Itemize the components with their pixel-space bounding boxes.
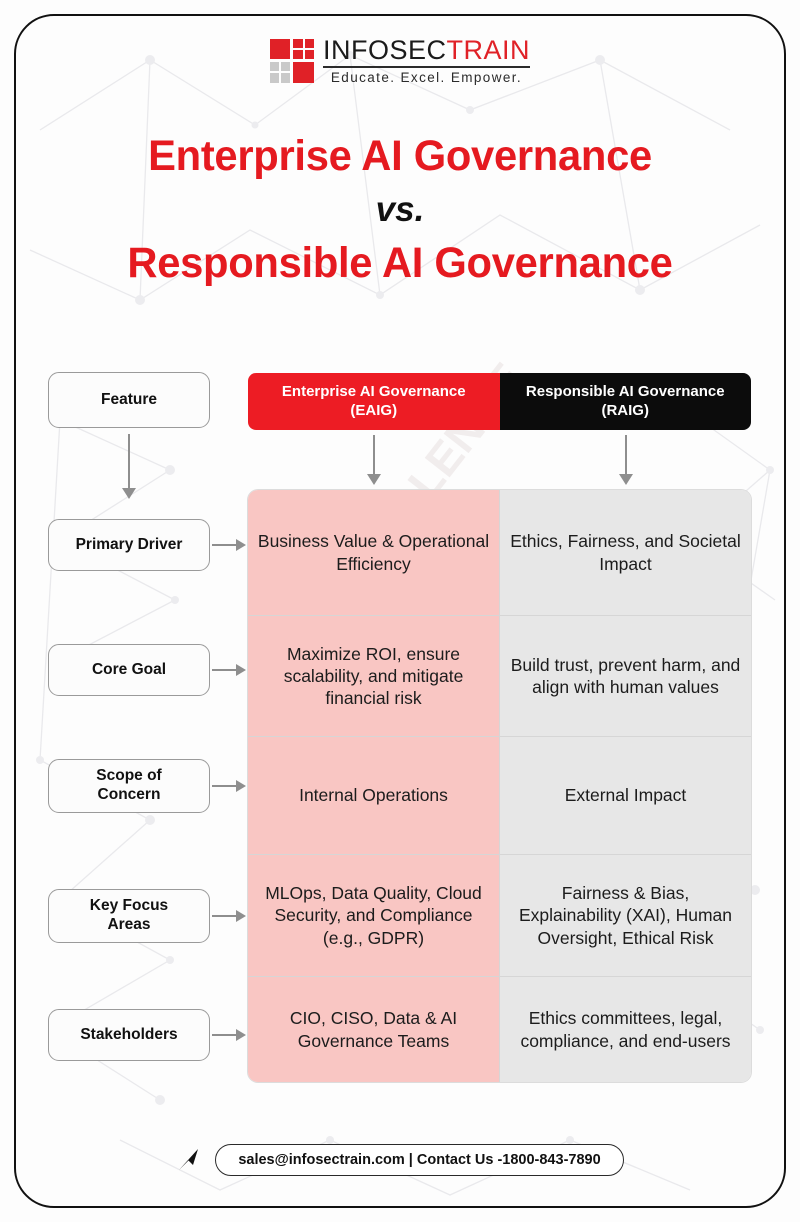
label-text-scope-of-concern: Scope ofConcern bbox=[96, 767, 161, 805]
table-row: MLOps, Data Quality, Cloud Security, and… bbox=[248, 855, 751, 977]
header-raig-line1: Responsible AI Governance bbox=[526, 383, 725, 400]
arrow-key-focus-areas-right bbox=[212, 910, 246, 922]
label-box-stakeholders: Stakeholders bbox=[48, 1009, 210, 1061]
table-row: Business Value & Operational Efficiency … bbox=[248, 490, 751, 616]
label-text-key-focus-areas: Key FocusAreas bbox=[90, 897, 168, 935]
logo-wordmark-part2: TRAIN bbox=[447, 35, 531, 65]
table-row: CIO, CISO, Data & AI Governance Teams Et… bbox=[248, 977, 751, 1082]
cursor-arrow-icon bbox=[176, 1146, 204, 1174]
label-text-stakeholders: Stakeholders bbox=[80, 1026, 177, 1045]
arrow-raig-down bbox=[620, 435, 632, 485]
label-text-primary-driver: Primary Driver bbox=[76, 536, 183, 555]
logo-wordmark-part1: INFOSEC bbox=[323, 35, 447, 65]
table-row: Maximize ROI, ensure scalability, and mi… bbox=[248, 616, 751, 737]
arrow-stakeholders-right bbox=[212, 1029, 246, 1041]
title-line-2: Responsible AI Governance bbox=[26, 239, 775, 287]
table-header-row: Enterprise AI Governance (EAIG) Responsi… bbox=[248, 373, 751, 430]
page-content: INFOSECTRAIN Educate. Excel. Empower. En… bbox=[14, 14, 786, 1208]
footer-contact-bar: sales@infosectrain.com | Contact Us -180… bbox=[14, 1144, 786, 1176]
header-raig-line2: (RAIG) bbox=[601, 402, 649, 419]
brand-logo: INFOSECTRAIN Educate. Excel. Empower. bbox=[14, 36, 786, 85]
logo-tagline: Educate. Excel. Empower. bbox=[323, 70, 530, 85]
arrow-primary-driver-right bbox=[212, 539, 246, 551]
comparison-table: Business Value & Operational Efficiency … bbox=[248, 490, 751, 1082]
cell-eaig-core-goal: Maximize ROI, ensure scalability, and mi… bbox=[248, 616, 499, 737]
label-box-core-goal: Core Goal bbox=[48, 644, 210, 696]
infographic-page: INFOSECTRAIN Educate. Excel. Empower. En… bbox=[0, 0, 800, 1222]
logo-divider bbox=[323, 66, 530, 68]
title-vs: vs. bbox=[14, 184, 786, 237]
label-box-feature: Feature bbox=[48, 372, 210, 428]
header-eaig-line2: (EAIG) bbox=[350, 402, 397, 419]
cell-eaig-stakeholders: CIO, CISO, Data & AI Governance Teams bbox=[248, 977, 499, 1082]
infosectrain-blocks-icon bbox=[270, 39, 314, 83]
logo-wordmark: INFOSECTRAIN bbox=[323, 36, 530, 64]
label-box-primary-driver: Primary Driver bbox=[48, 519, 210, 571]
cell-eaig-scope-of-concern: Internal Operations bbox=[248, 737, 499, 855]
cell-raig-primary-driver: Ethics, Fairness, and Societal Impact bbox=[499, 490, 751, 616]
cell-raig-stakeholders: Ethics committees, legal, compliance, an… bbox=[499, 977, 751, 1082]
header-eaig-line1: Enterprise AI Governance bbox=[282, 383, 466, 400]
table-header-raig: Responsible AI Governance (RAIG) bbox=[500, 373, 752, 430]
label-box-scope-of-concern: Scope ofConcern bbox=[48, 759, 210, 813]
comparison-diagram: EXCELLENCE Feature Enterprise AI Governa… bbox=[14, 354, 786, 1114]
table-header-eaig: Enterprise AI Governance (EAIG) bbox=[248, 373, 500, 430]
title-line-1: Enterprise AI Governance bbox=[26, 132, 775, 180]
contact-info[interactable]: sales@infosectrain.com | Contact Us -180… bbox=[215, 1144, 623, 1176]
table-row: Internal Operations External Impact bbox=[248, 737, 751, 855]
cell-raig-scope-of-concern: External Impact bbox=[499, 737, 751, 855]
cell-eaig-key-focus-areas: MLOps, Data Quality, Cloud Security, and… bbox=[248, 855, 499, 977]
arrow-scope-of-concern-right bbox=[212, 780, 246, 792]
label-box-key-focus-areas: Key FocusAreas bbox=[48, 889, 210, 943]
cell-raig-key-focus-areas: Fairness & Bias, Explainability (XAI), H… bbox=[499, 855, 751, 977]
cell-raig-core-goal: Build trust, prevent harm, and align wit… bbox=[499, 616, 751, 737]
label-text-feature: Feature bbox=[101, 391, 157, 410]
arrow-feature-down bbox=[123, 434, 135, 499]
arrow-eaig-down bbox=[368, 435, 380, 485]
arrow-core-goal-right bbox=[212, 664, 246, 676]
cell-eaig-primary-driver: Business Value & Operational Efficiency bbox=[248, 490, 499, 616]
page-title: Enterprise AI Governance vs. Responsible… bbox=[14, 132, 786, 287]
label-text-core-goal: Core Goal bbox=[92, 661, 166, 680]
